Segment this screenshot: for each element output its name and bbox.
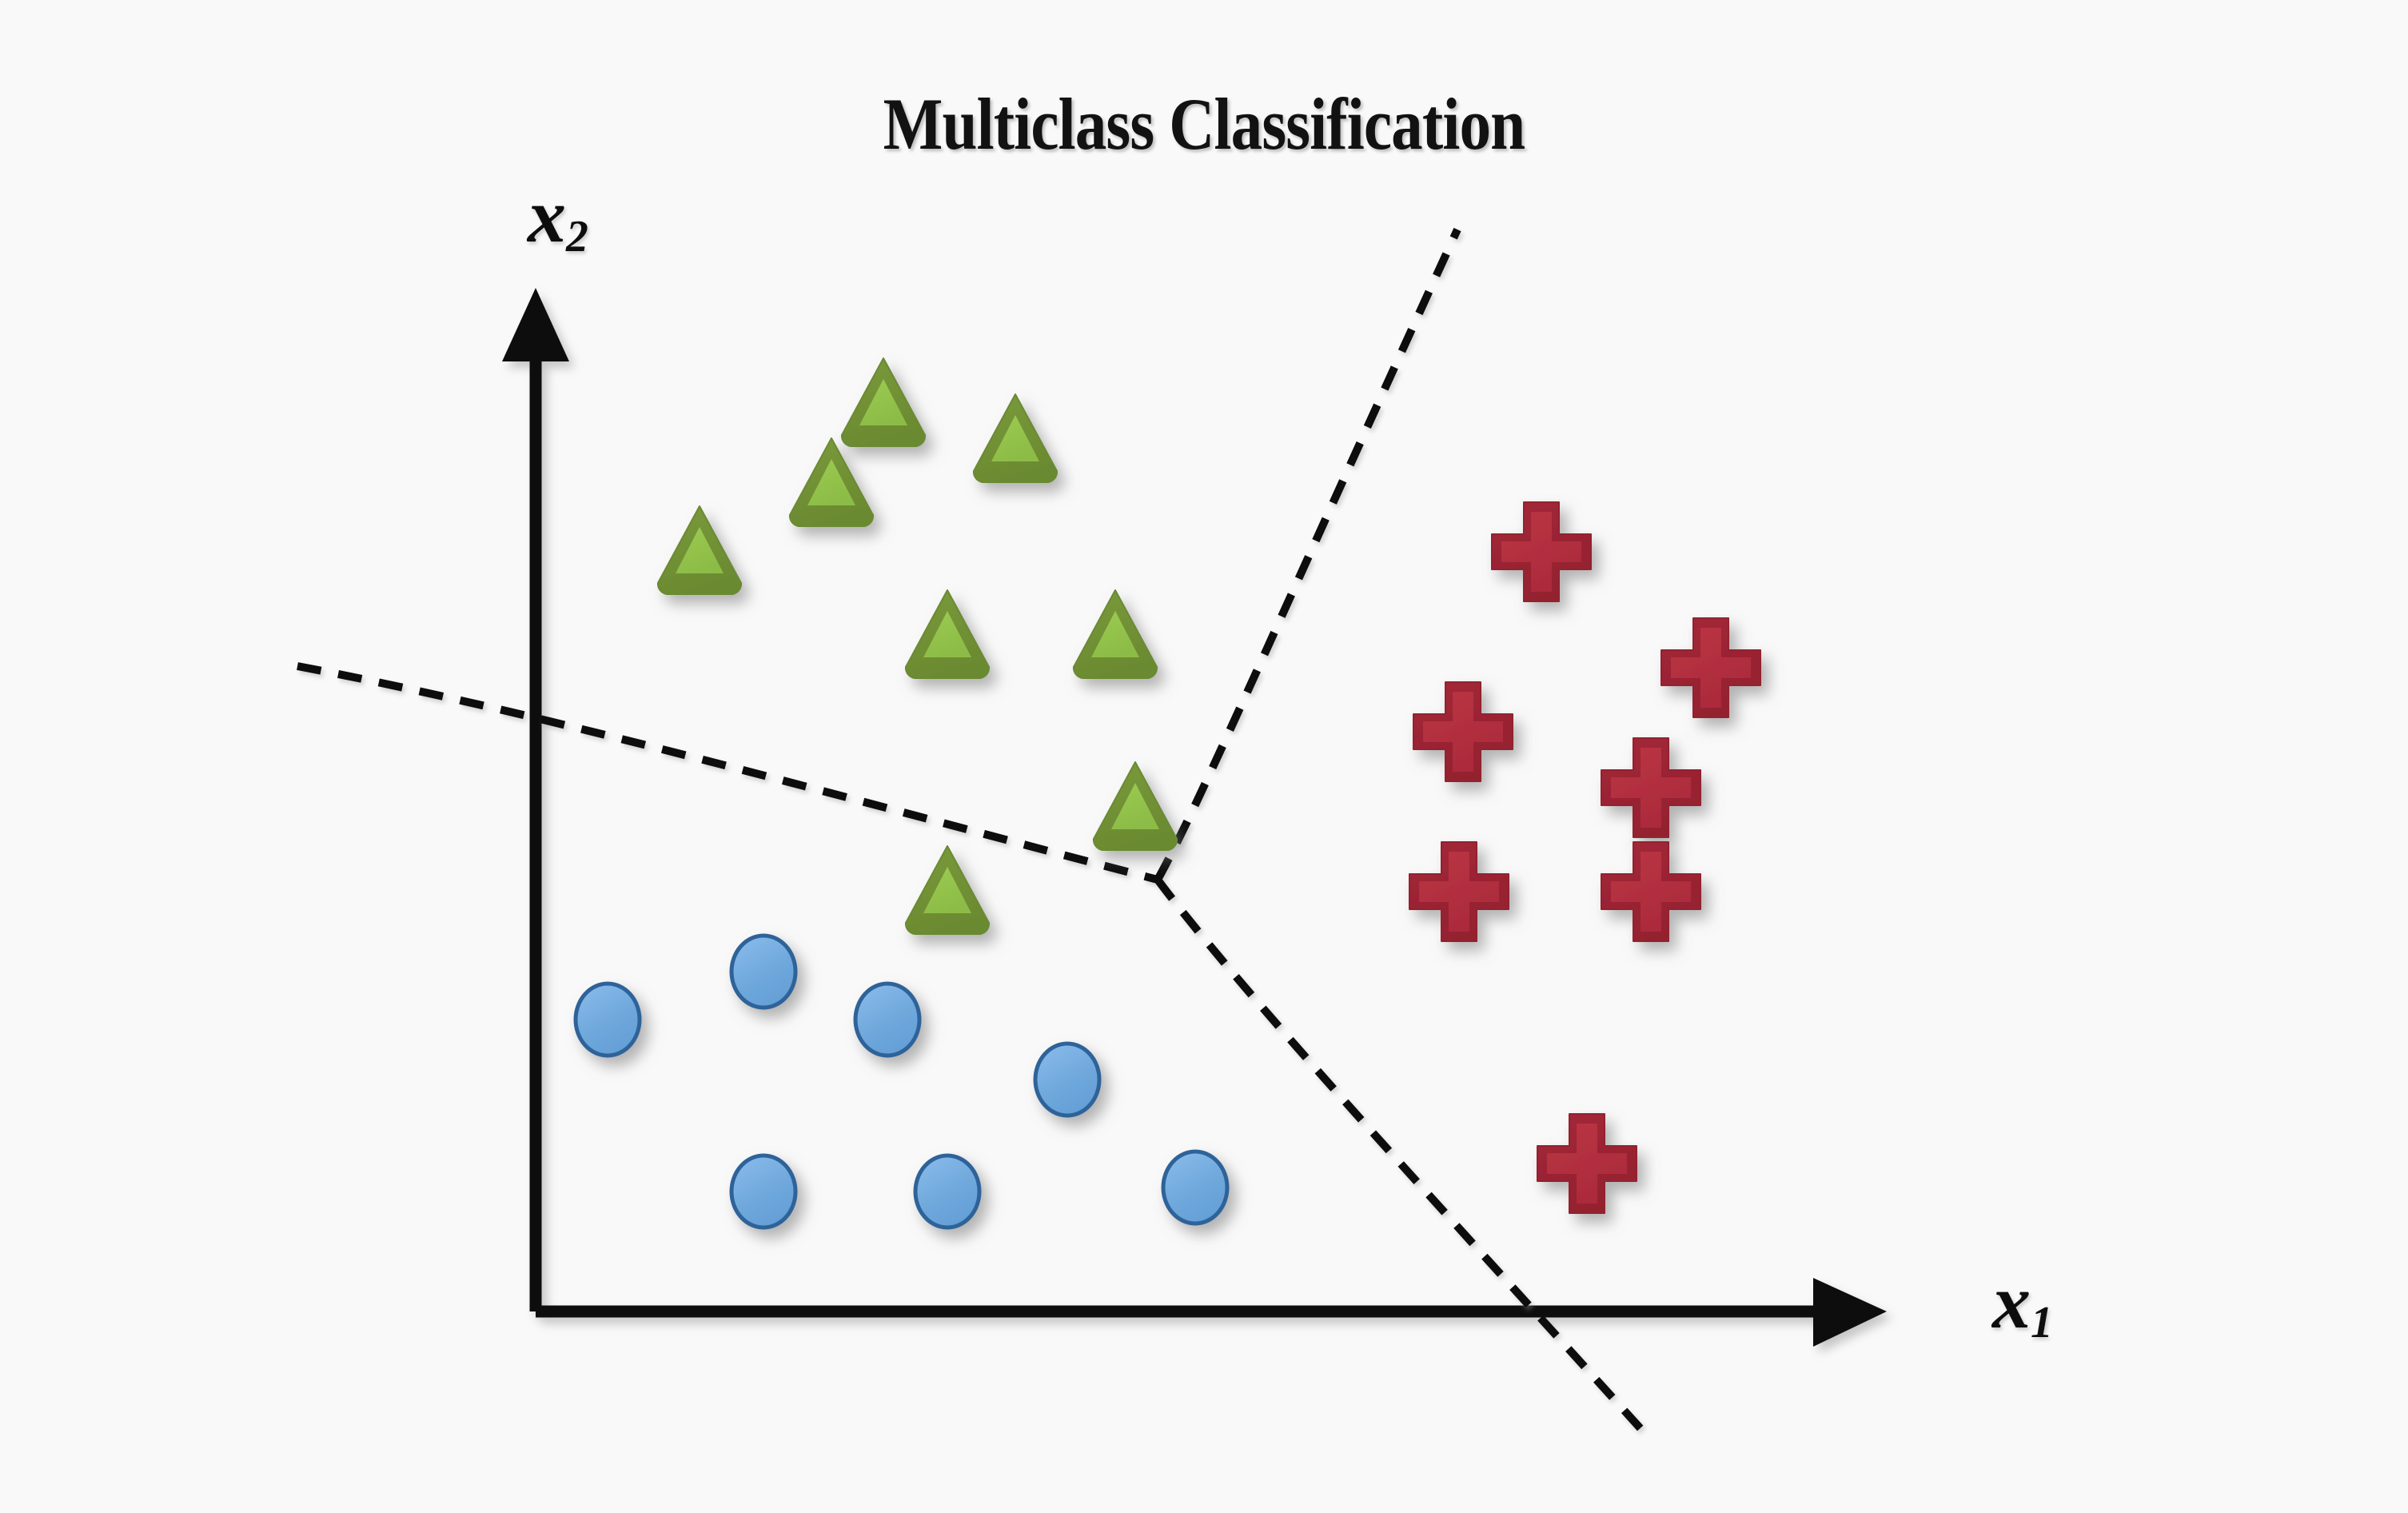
marker-cross bbox=[1413, 682, 1513, 781]
marker-cross bbox=[1601, 842, 1700, 941]
x-axis-label-subscript: 1 bbox=[2031, 1298, 2053, 1347]
decision-boundary-group bbox=[297, 230, 1645, 1434]
marker-circle bbox=[732, 936, 795, 1008]
figure-canvas: Multiclass Classification x2 x1 bbox=[0, 0, 2408, 1513]
marker-circle bbox=[576, 984, 640, 1056]
y-axis-label-subscript: 2 bbox=[566, 212, 588, 261]
marker-cross bbox=[1537, 1114, 1637, 1213]
marker-circle bbox=[1035, 1044, 1099, 1116]
boundary-left bbox=[297, 666, 1158, 880]
boundary-upper-right bbox=[1158, 230, 1457, 880]
marker-triangle bbox=[906, 846, 989, 934]
series-triangles bbox=[658, 358, 1177, 934]
marker-cross bbox=[1492, 502, 1591, 601]
marker-cross bbox=[1601, 738, 1700, 837]
marker-cross bbox=[1409, 842, 1509, 941]
series-crosses bbox=[1409, 502, 1760, 1213]
x-axis-label-base: x bbox=[1992, 1259, 2031, 1344]
marker-triangle bbox=[906, 590, 989, 678]
marker-triangle bbox=[1074, 590, 1157, 678]
marker-triangle bbox=[842, 358, 925, 446]
x-axis-arrowhead bbox=[1813, 1278, 1887, 1347]
x-axis-label: x1 bbox=[1992, 1263, 2053, 1346]
series-circles bbox=[576, 936, 1227, 1228]
marker-cross bbox=[1661, 618, 1760, 717]
marker-triangle bbox=[1094, 762, 1177, 850]
y-axis-label: x2 bbox=[528, 178, 588, 260]
y-axis-label-base: x bbox=[528, 173, 566, 258]
marker-triangle bbox=[658, 506, 741, 594]
y-axis-arrowhead bbox=[502, 288, 569, 361]
marker-circle bbox=[1163, 1152, 1227, 1224]
marker-triangle bbox=[790, 438, 873, 526]
marker-circle bbox=[915, 1156, 979, 1228]
marker-triangle bbox=[974, 394, 1057, 482]
marker-circle bbox=[855, 984, 919, 1056]
marker-circle bbox=[732, 1156, 795, 1228]
chart-title: Multiclass Classification bbox=[169, 82, 2239, 166]
